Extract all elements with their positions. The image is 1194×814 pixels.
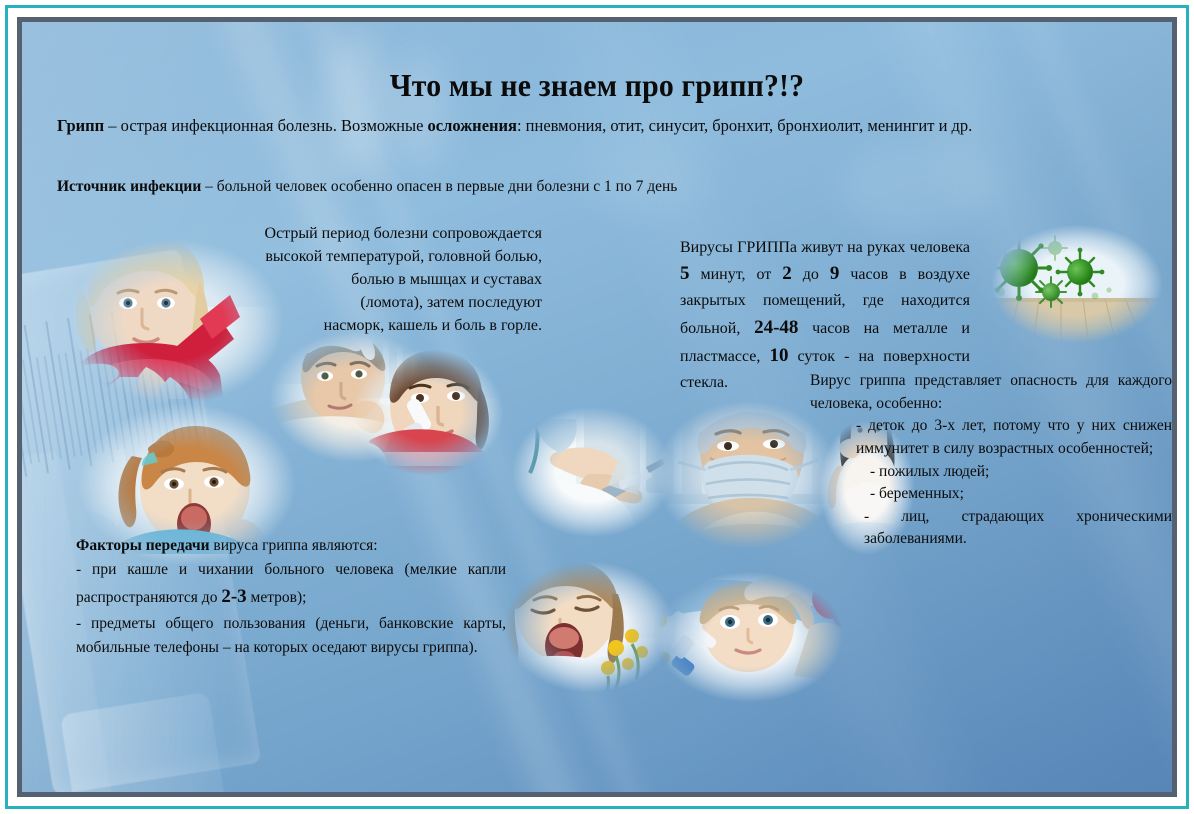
survival-text-1: Вирусы ГРИППа живут на руках человека — [680, 239, 970, 256]
lead-bold-term: Грипп — [57, 116, 104, 135]
transmission-bold-term: Факторы передачи — [76, 537, 210, 554]
transmission-intro-rest: вируса гриппа являются: — [210, 537, 378, 554]
source-bold-term: Источник инфекции — [57, 178, 201, 195]
survival-text-3: до — [792, 266, 830, 283]
acute-line-1: Острый период болезни сопровождается — [172, 222, 542, 245]
acute-line-5: насморк, кашель и боль в горле. — [172, 314, 542, 337]
transmission-item-1-text-b: метров); — [247, 589, 307, 606]
virus-on-wooden-surface-photo — [977, 220, 1172, 348]
risk-groups-block: Вирус гриппа представляет опасность для … — [810, 370, 1172, 551]
lead-text-2: : пневмония, отит, синусит, бронхит, бро… — [517, 116, 972, 135]
lead-text-1: – острая инфекционная болезнь. Возможные — [104, 116, 427, 135]
baby-with-thermometer-photo — [642, 562, 857, 712]
lead-paragraph: Грипп – острая инфекционная болезнь. Воз… — [57, 114, 1167, 137]
acute-period-block: Острый период болезни сопровождается выс… — [172, 222, 542, 337]
transmission-intro: Факторы передачи вируса гриппа являются: — [76, 534, 506, 558]
list-item: - пожилых людей; — [856, 461, 1172, 484]
survival-surface-hours-value: 24-48 — [754, 317, 798, 338]
page-title: Что мы не знаем про грипп?!? — [62, 67, 1132, 104]
risk-groups-intro: Вирус гриппа представляет опасность для … — [810, 370, 1172, 415]
poster-canvas: Что мы не знаем про грипп?!? Грипп – ост… — [22, 22, 1172, 792]
source-of-infection-paragraph: Источник инфекции – больной человек особ… — [57, 176, 1167, 198]
transmission-factors-block: Факторы передачи вируса гриппа являются:… — [76, 534, 506, 660]
transmission-item-2: - предметы общего пользования (деньги, б… — [76, 612, 506, 660]
woman-using-nasal-spray-photo — [340, 340, 515, 485]
transmission-item-1: - при кашле и чихании больного человека … — [76, 558, 506, 612]
risk-groups-list: - деток до 3-х лет, потому что у них сни… — [810, 415, 1172, 551]
survival-minutes-value: 5 — [680, 263, 690, 284]
survival-glass-days-value: 10 — [769, 345, 788, 366]
survival-text-2: минут, от — [690, 266, 783, 283]
background-bokeh-oval — [322, 32, 386, 182]
survival-hours-to-value: 9 — [830, 263, 840, 284]
source-text: – больной человек особенно опасен в перв… — [201, 178, 677, 195]
acute-line-3: болью в мышцах и суставах — [172, 268, 542, 291]
acute-line-4: (ломота), затем последуют — [172, 291, 542, 314]
acute-line-2: высокой температурой, головной болью, — [172, 245, 542, 268]
transmission-distance-value: 2-3 — [221, 586, 246, 607]
list-item: - деток до 3-х лет, потому что у них сни… — [856, 415, 1172, 460]
survival-hours-from-value: 2 — [782, 263, 792, 284]
lead-bold-complications: осложнения — [428, 116, 517, 135]
list-item: - лиц, страдающих хроническими заболеван… — [856, 506, 1172, 551]
poster-root: Что мы не знаем про грипп?!? Грипп – ост… — [0, 0, 1194, 814]
list-item: - беременных; — [856, 483, 1172, 506]
